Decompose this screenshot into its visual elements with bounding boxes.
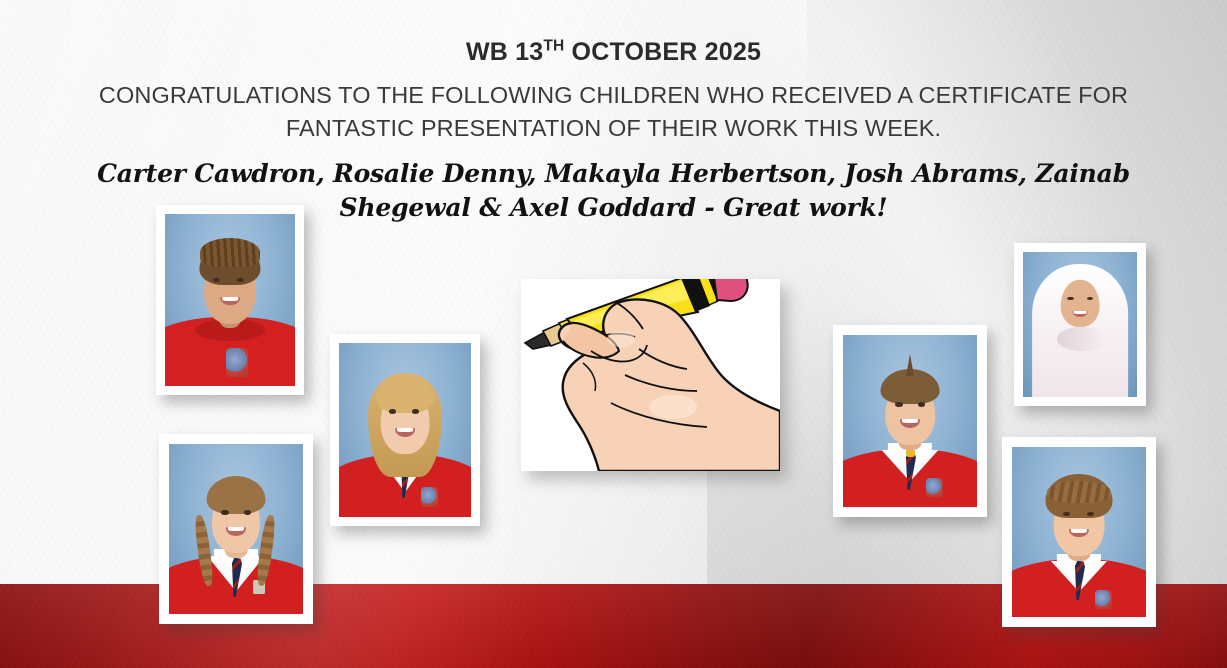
slide-text-block: WB 13TH OCTOBER 2025 CONGRATULATIONS TO … [0, 0, 1227, 225]
writing-hand-illustration [521, 279, 780, 471]
photo-frame-4 [833, 325, 987, 517]
pupil-photo-6 [1012, 447, 1146, 617]
pupil-photo-3 [169, 444, 303, 614]
pupil-photo-1 [165, 214, 295, 386]
presentation-slide: WB 13TH OCTOBER 2025 CONGRATULATIONS TO … [0, 0, 1227, 668]
title-prefix: WB 13 [466, 38, 543, 66]
photo-hair-fringe [1047, 481, 1111, 503]
photo-eye-right [244, 510, 251, 514]
photo-hair-texture [200, 238, 260, 267]
writing-hand-clipart [521, 279, 780, 471]
photo-eye-right [918, 402, 925, 406]
slide-subtitle: CONGRATULATIONS TO THE FOLLOWING CHILDRE… [64, 79, 1164, 146]
pupil-photo-4 [843, 335, 977, 507]
slide-title: WB 13TH OCTOBER 2025 [0, 0, 1227, 67]
photo-frame-5 [1014, 243, 1146, 406]
photo-school-crest [421, 487, 438, 506]
photo-frame-6 [1002, 437, 1156, 627]
title-ordinal-suffix: TH [543, 38, 564, 55]
photo-eye-left [221, 510, 228, 514]
photo-eye-left [895, 402, 902, 406]
title-suffix: OCTOBER 2025 [564, 38, 761, 66]
photo-frame-3 [159, 434, 313, 624]
photo-eye-right [237, 278, 244, 282]
photo-school-crest [1095, 590, 1112, 609]
photo-head [1061, 280, 1100, 328]
photo-eye-right [412, 409, 419, 414]
photo-school-crest [226, 348, 248, 377]
pupil-photo-2 [339, 343, 471, 517]
pupil-names-line: Carter Cawdron, Rosalie Denny, Makayla H… [49, 157, 1179, 225]
photo-frame-1 [156, 205, 304, 395]
photo-frame-2 [330, 334, 480, 526]
pupil-photo-5 [1023, 252, 1137, 397]
photo-hijab-fold [1057, 327, 1105, 350]
photo-school-crest [926, 478, 943, 497]
photo-eye-left [1063, 512, 1070, 516]
photo-eye-left [389, 409, 396, 414]
photo-eye-left [1067, 297, 1073, 300]
